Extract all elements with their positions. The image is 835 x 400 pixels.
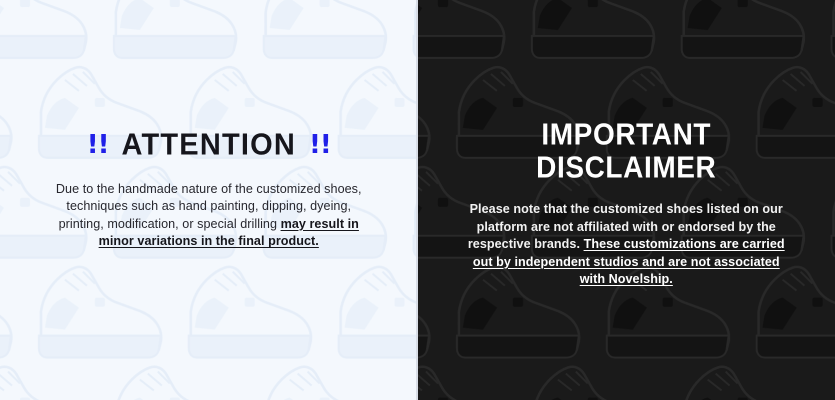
double-exclamation-left-icon: !!	[87, 132, 109, 158]
important-disclaimer-panel: IMPORTANT DISCLAIMER Please note that th…	[418, 0, 835, 400]
attention-heading: !! ATTENTION !!	[87, 131, 331, 160]
double-exclamation-right-icon: !!	[309, 132, 331, 158]
disclaimer-title-line1: IMPORTANT	[536, 121, 716, 147]
attention-title: ATTENTION	[121, 130, 296, 160]
disclaimer-heading: IMPORTANT DISCLAIMER	[536, 121, 716, 180]
attention-panel: !! ATTENTION !! Due to the handmade natu…	[0, 0, 418, 400]
attention-disclaimer-banner: !! ATTENTION !! Due to the handmade natu…	[0, 0, 835, 400]
disclaimer-title-line2: DISCLAIMER	[536, 154, 716, 180]
attention-body: Due to the handmade nature of the custom…	[56, 181, 362, 251]
panel-divider	[416, 0, 418, 400]
disclaimer-body: Please note that the customized shoes li…	[465, 201, 787, 289]
